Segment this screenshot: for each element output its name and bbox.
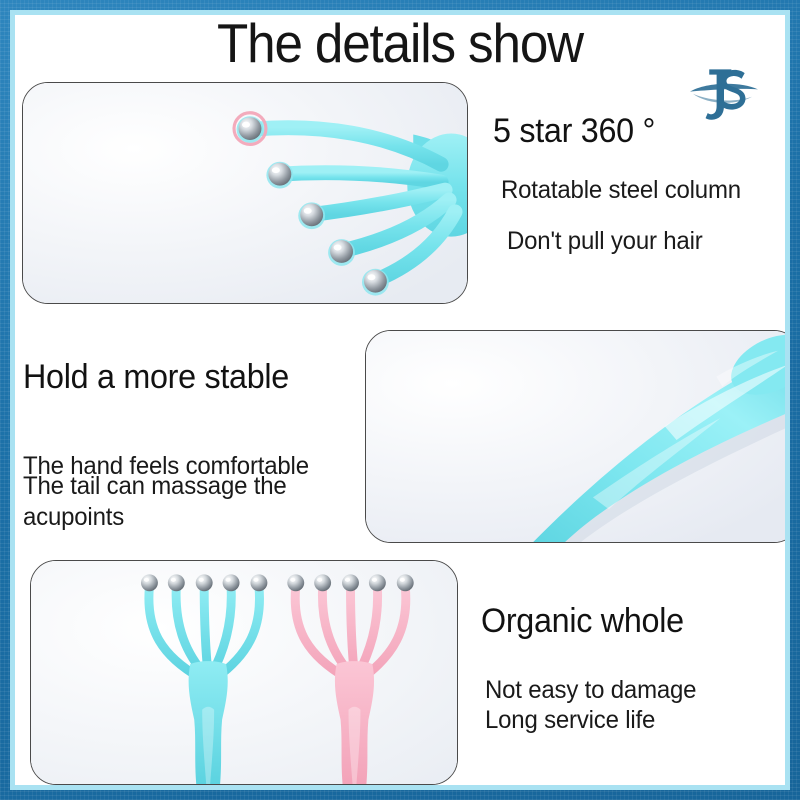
- section-line-long-service-life: Long service life: [485, 705, 655, 736]
- section-line-dont-pull-your-hair: Don't pull your hair: [507, 226, 703, 257]
- section-heading-five-star: 5 star 360 °: [493, 111, 655, 151]
- product-photo-card-organic-whole: [30, 560, 458, 785]
- massager-head-five-arms-image: [23, 83, 467, 303]
- js-monogram-logo: [687, 65, 761, 127]
- massager-handle-closeup-image: [366, 331, 785, 542]
- page-title: The details show: [42, 15, 758, 75]
- product-photo-card-hold-stable: [365, 330, 785, 543]
- section-heading-organic-whole: Organic whole: [481, 601, 684, 641]
- decorative-frame: The details show: [0, 0, 800, 800]
- section-heading-hold-stable: Hold a more stable: [23, 357, 289, 397]
- section-line-tail-massage-acupoints: The tail can massage the acupoints: [23, 471, 340, 533]
- two-massagers-image: [31, 561, 457, 784]
- content-canvas: The details show: [15, 15, 785, 785]
- section-line-not-easy-to-damage: Not easy to damage: [485, 675, 696, 706]
- section-line-rotatable-steel-column: Rotatable steel column: [501, 175, 741, 206]
- product-photo-card-five-star: [22, 82, 468, 304]
